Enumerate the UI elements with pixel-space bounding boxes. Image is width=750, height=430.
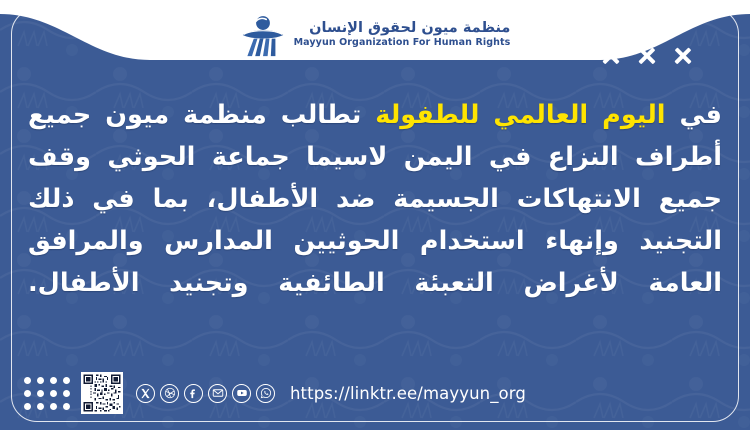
youtube-icon[interactable]: [232, 384, 251, 403]
facebook-icon[interactable]: [184, 384, 203, 403]
whatsapp-icon[interactable]: [256, 384, 275, 403]
social-links: [136, 384, 275, 403]
poster-canvas: منظمة ميون لحقوق الإنسان Mayyun Organiza…: [0, 0, 750, 430]
website-url[interactable]: https://linktr.ee/mayyun_org: [290, 384, 526, 403]
cross-mark-icon: [673, 46, 692, 65]
mayyun-human-figure-logo-icon: [240, 12, 286, 58]
org-name-arabic: منظمة ميون لحقوق الإنسان: [309, 21, 510, 36]
headline-prefix: في: [666, 100, 722, 130]
headline-statement: في اليوم العالمي للطفولة تطالب منظمة ميو…: [28, 94, 722, 304]
headline-highlight: اليوم العالمي للطفولة: [375, 100, 665, 130]
footer-bar: https://linktr.ee/mayyun_org: [24, 374, 726, 412]
dot-grid-decoration: [24, 377, 70, 410]
decorative-crosses: [601, 46, 692, 65]
qr-code[interactable]: [81, 372, 123, 414]
email-icon[interactable]: [208, 384, 227, 403]
cross-mark-icon: [601, 46, 620, 65]
org-name-english: Mayyun Organization For Human Rights: [294, 38, 511, 48]
threads-icon[interactable]: [160, 384, 179, 403]
x-twitter-icon[interactable]: [136, 384, 155, 403]
cross-mark-icon: [637, 46, 656, 65]
